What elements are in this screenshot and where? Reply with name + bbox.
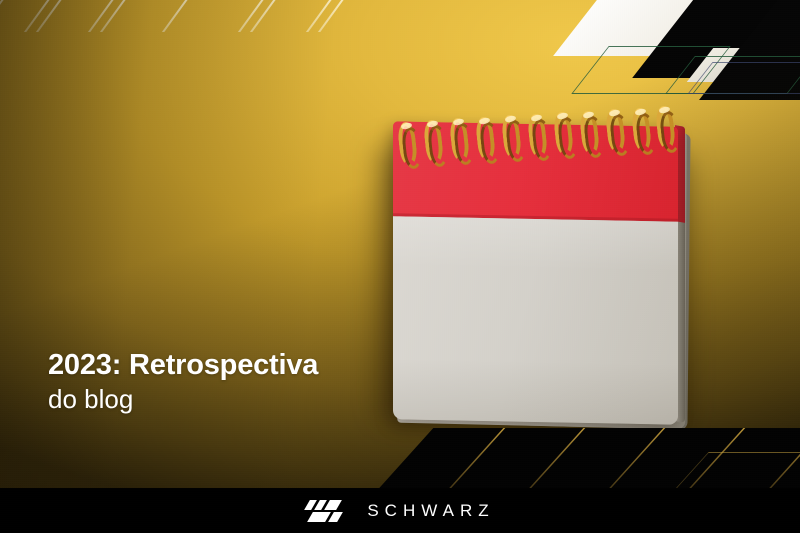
headline-line-2: do blog [48, 384, 448, 415]
brand-logo: SCHWARZ [0, 488, 800, 533]
headline-block: 2023: Retrospectiva do blog [48, 348, 448, 415]
notepad-spiral-rings [393, 106, 685, 162]
schwarz-slash-mark-icon [305, 499, 351, 523]
poster-canvas: 2023: Retrospectiva do blog SCHWARZ [0, 0, 800, 533]
brand-wordmark: SCHWARZ [367, 502, 494, 519]
headline-line-1: 2023: Retrospectiva [48, 348, 448, 382]
